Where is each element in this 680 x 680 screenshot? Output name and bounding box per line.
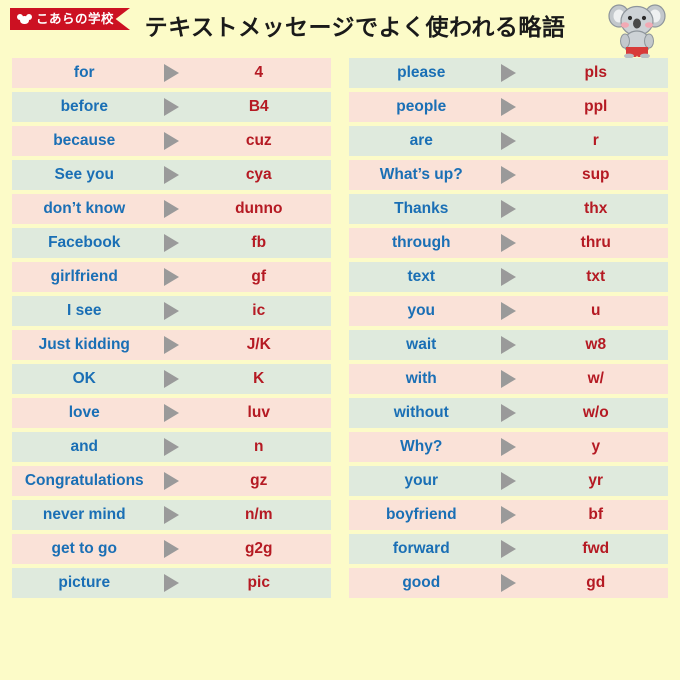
table-row: Just kiddingJ/K — [12, 330, 331, 360]
full-term: before — [12, 98, 155, 116]
table-row: girlfriendgf — [12, 262, 331, 292]
triangle-right-icon — [164, 98, 179, 116]
abbreviation: cuz — [189, 132, 332, 150]
triangle-right-icon — [501, 506, 516, 524]
full-term: your — [349, 472, 492, 490]
abbreviation: fb — [189, 234, 332, 252]
abbreviation: bf — [526, 506, 669, 524]
full-term: with — [349, 370, 492, 388]
table-row: texttxt — [349, 262, 668, 292]
triangle-right-icon — [501, 166, 516, 184]
full-term: Thanks — [349, 200, 492, 218]
triangle-right-icon — [164, 268, 179, 286]
abbreviation: txt — [526, 268, 669, 286]
full-term: don’t know — [12, 200, 155, 218]
full-term: girlfriend — [12, 268, 155, 286]
triangle-right-icon — [501, 302, 516, 320]
full-term: through — [349, 234, 492, 252]
full-term: you — [349, 302, 492, 320]
arrow-cell — [492, 132, 526, 150]
table-row: andn — [12, 432, 331, 462]
triangle-right-icon — [164, 132, 179, 150]
arrow-cell — [155, 438, 189, 456]
abbreviation: thru — [526, 234, 669, 252]
full-term: because — [12, 132, 155, 150]
arrow-cell — [155, 98, 189, 116]
table-row: See youcya — [12, 160, 331, 190]
abbreviation: gd — [526, 574, 669, 592]
arrow-cell — [155, 404, 189, 422]
full-term: are — [349, 132, 492, 150]
triangle-right-icon — [501, 540, 516, 558]
arrow-cell — [492, 404, 526, 422]
abbreviation: gf — [189, 268, 332, 286]
arrow-cell — [155, 200, 189, 218]
triangle-right-icon — [501, 200, 516, 218]
table-row: Thanksthx — [349, 194, 668, 224]
triangle-right-icon — [164, 404, 179, 422]
triangle-right-icon — [164, 506, 179, 524]
table-row: arer — [349, 126, 668, 156]
abbreviation: w/o — [526, 404, 669, 422]
arrow-cell — [155, 166, 189, 184]
abbreviation: K — [189, 370, 332, 388]
abbreviation: 4 — [189, 64, 332, 82]
brand-label: こあらの学校 — [36, 13, 114, 26]
abbreviation: sup — [526, 166, 669, 184]
abbreviation: n/m — [189, 506, 332, 524]
triangle-right-icon — [501, 574, 516, 592]
table-row: boyfriendbf — [349, 500, 668, 530]
left-column: for4beforeB4becausecuzSee youcyadon’t kn… — [12, 58, 331, 680]
arrow-cell — [492, 200, 526, 218]
table-row: peopleppl — [349, 92, 668, 122]
abbreviation: n — [189, 438, 332, 456]
arrow-cell — [155, 574, 189, 592]
arrow-cell — [155, 234, 189, 252]
abbreviation: ppl — [526, 98, 669, 116]
triangle-right-icon — [501, 132, 516, 150]
arrow-cell — [492, 234, 526, 252]
arrow-cell — [492, 166, 526, 184]
arrow-cell — [492, 64, 526, 82]
full-term: boyfriend — [349, 506, 492, 524]
abbreviation: ic — [189, 302, 332, 320]
full-term: and — [12, 438, 155, 456]
page-title: テキストメッセージでよく使われる略語 — [140, 12, 570, 42]
koala-mascot-icon — [606, 1, 668, 58]
triangle-right-icon — [501, 438, 516, 456]
table-row: forwardfwd — [349, 534, 668, 564]
abbreviation: w/ — [526, 370, 669, 388]
abbreviation: gz — [189, 472, 332, 490]
table-row: OKK — [12, 364, 331, 394]
table-row: withw/ — [349, 364, 668, 394]
abbreviation: fwd — [526, 540, 669, 558]
full-term: for — [12, 64, 155, 82]
table-row: youu — [349, 296, 668, 326]
full-term: Facebook — [12, 234, 155, 252]
abbreviation: w8 — [526, 336, 669, 354]
arrow-cell — [492, 574, 526, 592]
abbreviation: luv — [189, 404, 332, 422]
arrow-cell — [155, 370, 189, 388]
triangle-right-icon — [501, 472, 516, 490]
table-row: becausecuz — [12, 126, 331, 156]
table-row: withoutw/o — [349, 398, 668, 428]
full-term: picture — [12, 574, 155, 592]
triangle-right-icon — [164, 540, 179, 558]
triangle-right-icon — [164, 370, 179, 388]
table-row: Facebookfb — [12, 228, 331, 258]
abbreviation: cya — [189, 166, 332, 184]
triangle-right-icon — [501, 336, 516, 354]
full-term: love — [12, 404, 155, 422]
full-term: forward — [349, 540, 492, 558]
arrow-cell — [155, 268, 189, 286]
abbreviation: y — [526, 438, 669, 456]
full-term: people — [349, 98, 492, 116]
full-term: get to go — [12, 540, 155, 558]
arrow-cell — [492, 336, 526, 354]
table-row: Congratulationsgz — [12, 466, 331, 496]
table-row: waitw8 — [349, 330, 668, 360]
triangle-right-icon — [164, 472, 179, 490]
full-term: never mind — [12, 506, 155, 524]
triangle-right-icon — [164, 438, 179, 456]
triangle-right-icon — [164, 166, 179, 184]
table-row: youryr — [349, 466, 668, 496]
arrow-cell — [492, 540, 526, 558]
abbreviation: r — [526, 132, 669, 150]
triangle-right-icon — [164, 336, 179, 354]
table-row: loveluv — [12, 398, 331, 428]
abbreviation: yr — [526, 472, 669, 490]
full-term: Why? — [349, 438, 492, 456]
triangle-right-icon — [164, 302, 179, 320]
abbreviation: pic — [189, 574, 332, 592]
arrow-cell — [155, 506, 189, 524]
abbreviation: B4 — [189, 98, 332, 116]
arrow-cell — [155, 472, 189, 490]
arrow-cell — [155, 336, 189, 354]
full-term: Just kidding — [12, 336, 155, 354]
arrow-cell — [155, 302, 189, 320]
page-header: こあらの学校 テキストメッセージでよく使われる略語 — [0, 0, 680, 58]
triangle-right-icon — [501, 370, 516, 388]
triangle-right-icon — [501, 64, 516, 82]
arrow-cell — [492, 98, 526, 116]
brand-ribbon: こあらの学校 — [10, 8, 130, 30]
table-row: beforeB4 — [12, 92, 331, 122]
full-term: good — [349, 574, 492, 592]
arrow-cell — [155, 540, 189, 558]
table-row: don’t knowdunno — [12, 194, 331, 224]
full-term: OK — [12, 370, 155, 388]
full-term: What’s up? — [349, 166, 492, 184]
table-row: picturepic — [12, 568, 331, 598]
table-row: for4 — [12, 58, 331, 88]
table-row: throughthru — [349, 228, 668, 258]
full-term: text — [349, 268, 492, 286]
table-row: What’s up?sup — [349, 160, 668, 190]
table-row: never mindn/m — [12, 500, 331, 530]
full-term: please — [349, 64, 492, 82]
triangle-right-icon — [501, 234, 516, 252]
triangle-right-icon — [164, 200, 179, 218]
abbreviation: g2g — [189, 540, 332, 558]
infographic-page: こあらの学校 テキストメッセージでよく使われる略語 — [0, 0, 680, 680]
arrow-cell — [492, 438, 526, 456]
full-term: wait — [349, 336, 492, 354]
table-row: Why?y — [349, 432, 668, 462]
abbreviation: u — [526, 302, 669, 320]
full-term: Congratulations — [12, 472, 155, 490]
table-row: goodgd — [349, 568, 668, 598]
arrow-cell — [492, 506, 526, 524]
triangle-right-icon — [501, 404, 516, 422]
arrow-cell — [492, 302, 526, 320]
arrow-cell — [492, 268, 526, 286]
koala-face-shape — [20, 16, 29, 24]
abbreviation: pls — [526, 64, 669, 82]
triangle-right-icon — [501, 268, 516, 286]
right-column: pleaseplspeoplepplarerWhat’s up?supThank… — [349, 58, 668, 680]
table-row: get to gog2g — [12, 534, 331, 564]
abbreviation: J/K — [189, 336, 332, 354]
abbreviation: dunno — [189, 200, 332, 218]
triangle-right-icon — [164, 574, 179, 592]
koala-face-icon — [18, 14, 31, 25]
arrow-cell — [155, 132, 189, 150]
table-row: pleasepls — [349, 58, 668, 88]
triangle-right-icon — [164, 234, 179, 252]
full-term: without — [349, 404, 492, 422]
arrow-cell — [155, 64, 189, 82]
triangle-right-icon — [164, 64, 179, 82]
abbreviation: thx — [526, 200, 669, 218]
full-term: See you — [12, 166, 155, 184]
abbreviation-table: for4beforeB4becausecuzSee youcyadon’t kn… — [0, 58, 680, 680]
arrow-cell — [492, 370, 526, 388]
triangle-right-icon — [501, 98, 516, 116]
table-row: I seeic — [12, 296, 331, 326]
full-term: I see — [12, 302, 155, 320]
arrow-cell — [492, 472, 526, 490]
